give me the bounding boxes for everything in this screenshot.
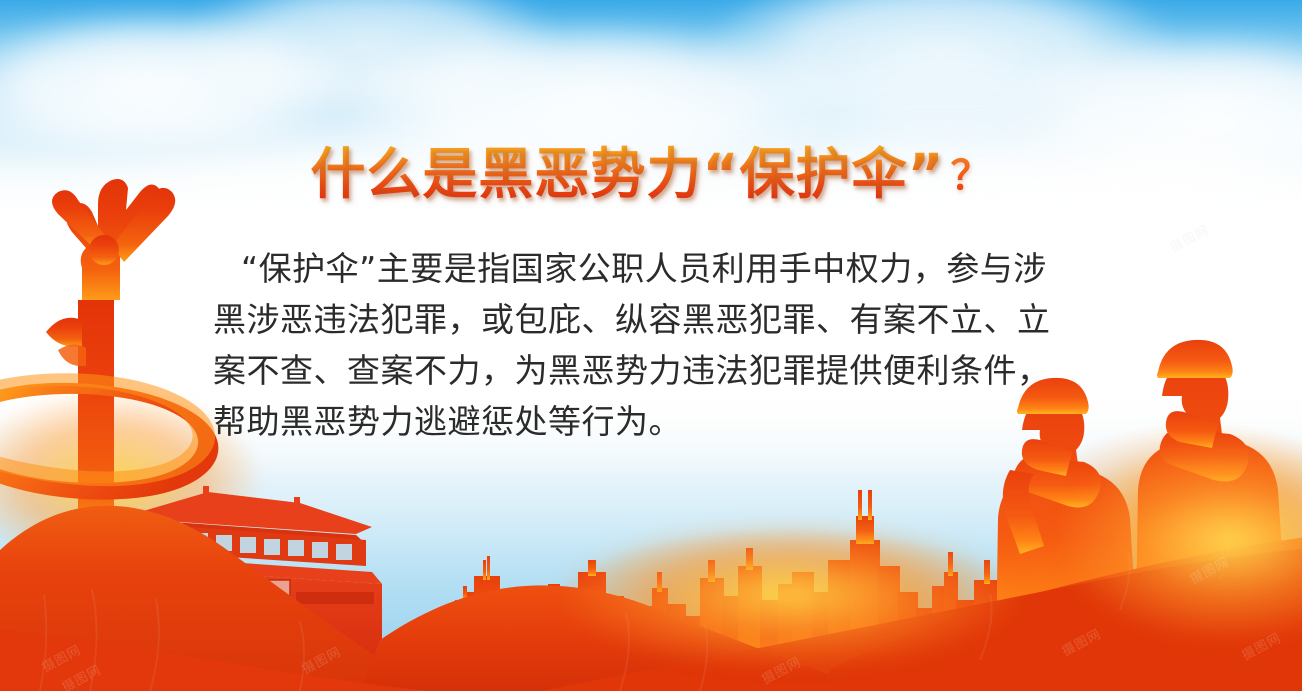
text-content-layer: 什么是黑恶势力“保护伞”？ “保护伞”主要是指国家公职人员利用手中权力，参与涉 … bbox=[0, 0, 1302, 691]
page-title: 什么是黑恶势力“保护伞”？ bbox=[0, 146, 1302, 204]
body-line: 黑涉恶违法犯罪，或包庇、纵容黑恶犯罪、有案不立、立 bbox=[213, 294, 1108, 345]
page-title-question-mark: ？ bbox=[951, 153, 992, 199]
poster-canvas: 什么是黑恶势力“保护伞”？ “保护伞”主要是指国家公职人员利用手中权力，参与涉 … bbox=[0, 0, 1302, 691]
body-line: 案不查、查案不力，为黑恶势力违法犯罪提供便利条件， bbox=[213, 345, 1108, 396]
body-line: 帮助黑恶势力逃避惩处等行为。 bbox=[213, 396, 1108, 447]
page-title-main: 什么是黑恶势力“保护伞” bbox=[310, 142, 944, 206]
body-paragraph: “保护伞”主要是指国家公职人员利用手中权力，参与涉 黑涉恶违法犯罪，或包庇、纵容… bbox=[213, 243, 1108, 447]
body-line: “保护伞”主要是指国家公职人员利用手中权力，参与涉 bbox=[213, 243, 1108, 294]
